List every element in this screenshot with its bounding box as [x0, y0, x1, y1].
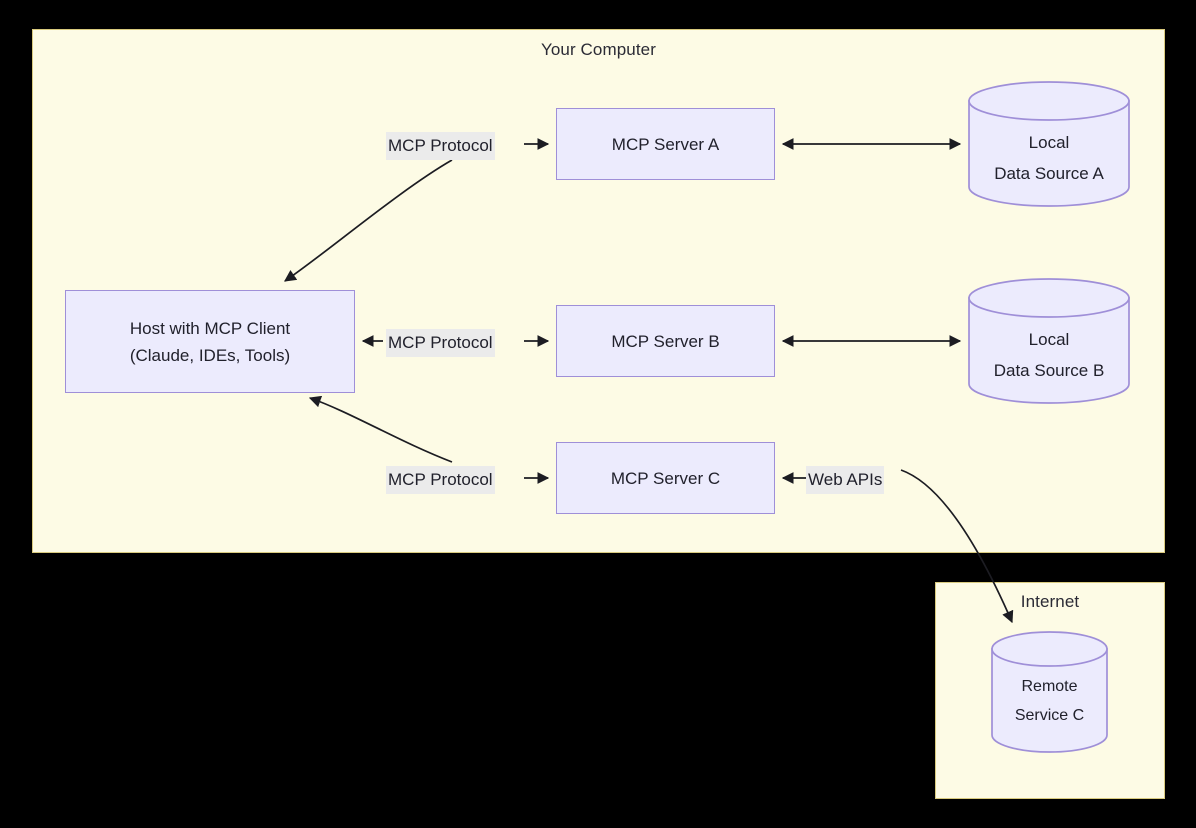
node-mcp-server-a-label: MCP Server A: [612, 131, 719, 158]
database-cylinder-icon: [990, 630, 1109, 754]
node-mcp-server-b-label: MCP Server B: [611, 328, 719, 355]
node-host-line1: Host with MCP Client: [130, 315, 290, 342]
node-mcp-server-b[interactable]: MCP Server B: [556, 305, 775, 377]
diagram-canvas: Your Computer Internet: [0, 0, 1196, 828]
node-mcp-server-a[interactable]: MCP Server A: [556, 108, 775, 180]
node-host-with-mcp-client[interactable]: Host with MCP Client (Claude, IDEs, Tool…: [65, 290, 355, 393]
node-mcp-server-c[interactable]: MCP Server C: [556, 442, 775, 514]
node-local-data-source-a[interactable]: Local Data Source A: [967, 80, 1131, 208]
node-host-line2: (Claude, IDEs, Tools): [130, 342, 290, 369]
edge-label-mcp-protocol-a: MCP Protocol: [386, 132, 495, 160]
edge-label-mcp-protocol-c: MCP Protocol: [386, 466, 495, 494]
node-local-data-source-b[interactable]: Local Data Source B: [967, 277, 1131, 405]
database-cylinder-icon: [967, 277, 1131, 405]
node-mcp-server-c-label: MCP Server C: [611, 465, 720, 492]
node-remote-service-c[interactable]: Remote Service C: [990, 630, 1109, 754]
edge-label-mcp-protocol-b: MCP Protocol: [386, 329, 495, 357]
container-your-computer-title: Your Computer: [33, 40, 1164, 60]
container-internet-title: Internet: [936, 592, 1164, 612]
database-cylinder-icon: [967, 80, 1131, 208]
edge-label-web-apis: Web APIs: [806, 466, 884, 494]
